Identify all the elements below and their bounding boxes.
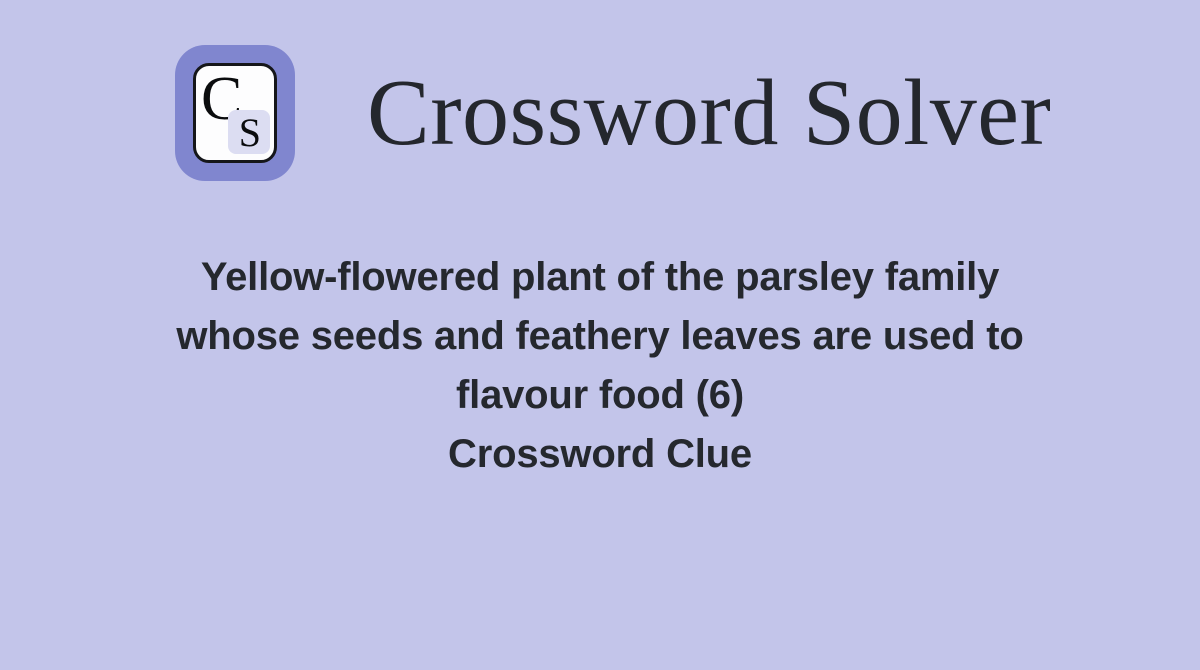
site-title: Crossword Solver: [367, 66, 1051, 160]
clue-line-3: flavour food (6): [100, 366, 1100, 425]
crossword-solver-logo[interactable]: C S: [175, 45, 295, 181]
clue-suffix-label: Crossword Clue: [100, 425, 1100, 484]
site-header: C S Crossword Solver: [0, 0, 1200, 225]
logo-letter-s: S: [239, 113, 261, 153]
clue-line-2: whose seeds and feathery leaves are used…: [100, 307, 1100, 366]
clue-block: Yellow-flowered plant of the parsley fam…: [100, 248, 1100, 484]
logo-inner-tile: C S: [193, 63, 277, 163]
page-root: C S Crossword Solver Yellow-flowered pla…: [0, 0, 1200, 670]
clue-line-1: Yellow-flowered plant of the parsley fam…: [100, 248, 1100, 307]
